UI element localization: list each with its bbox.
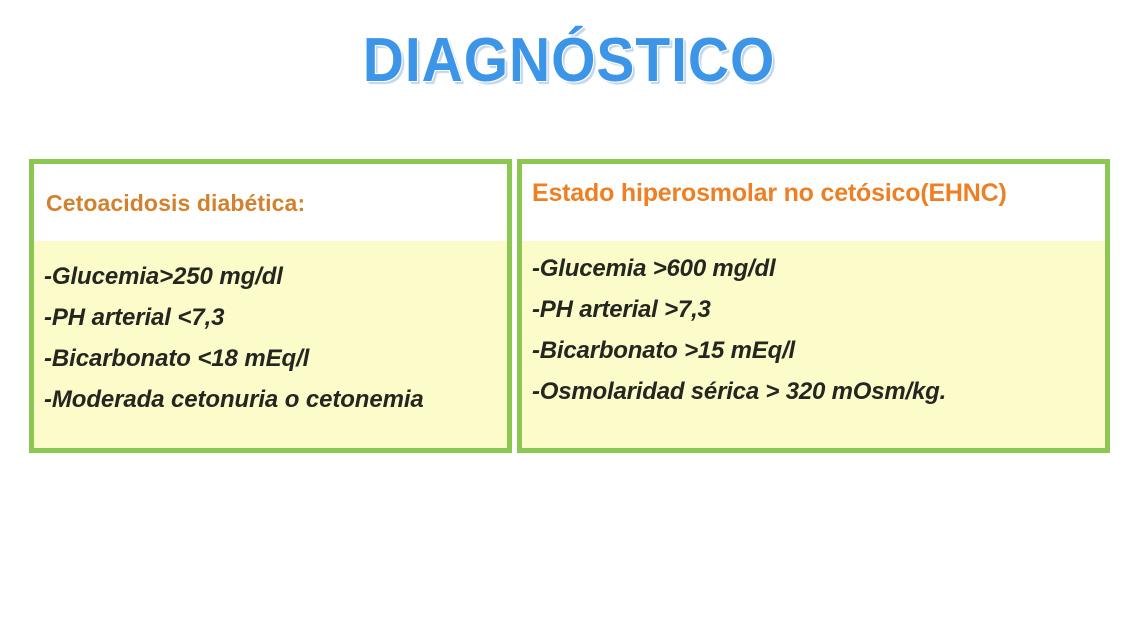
list-item: -Osmolaridad sérica > 320 mOsm/kg. — [532, 371, 1105, 412]
list-item: -PH arterial >7,3 — [532, 289, 1105, 330]
panel-header-right: Estado hiperosmolar no cetósico(EHNC) — [522, 164, 1105, 241]
page-title: DIAGNÓSTICO — [46, 30, 1093, 92]
list-item: -Glucemia>250 mg/dl — [44, 256, 507, 297]
list-item: -Glucemia >600 mg/dl — [532, 248, 1105, 289]
panel-estado-hiperosmolar: Estado hiperosmolar no cetósico(EHNC) -G… — [517, 159, 1110, 453]
panel-cetoacidosis-diabetica: Cetoacidosis diabética: -Glucemia>250 mg… — [29, 159, 512, 453]
panel-body-left: -Glucemia>250 mg/dl -PH arterial <7,3 -B… — [34, 241, 507, 448]
list-item: -PH arterial <7,3 — [44, 297, 507, 338]
panel-header-left: Cetoacidosis diabética: — [34, 164, 507, 241]
panel-body-right: -Glucemia >600 mg/dl -PH arterial >7,3 -… — [522, 241, 1105, 448]
list-item: -Bicarbonato <18 mEq/l — [44, 338, 507, 379]
list-item: -Bicarbonato >15 mEq/l — [532, 330, 1105, 371]
panel-left-title: Cetoacidosis diabética: — [46, 191, 507, 215]
list-item: -Moderada cetonuria o cetonemia — [44, 379, 507, 420]
panel-right-title: Estado hiperosmolar no cetósico(EHNC) — [532, 180, 1105, 206]
